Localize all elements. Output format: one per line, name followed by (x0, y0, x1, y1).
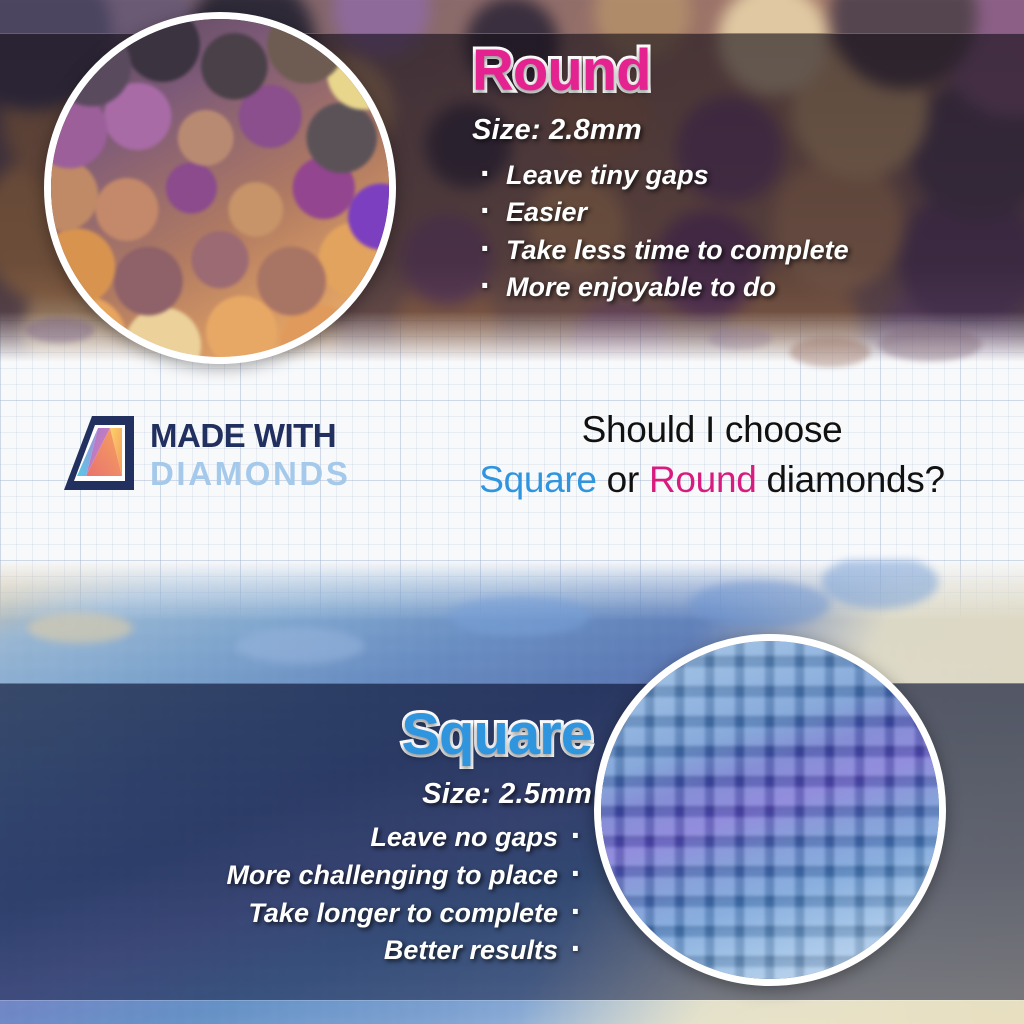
list-item: Take less time to complete (472, 232, 992, 269)
square-title: Square (32, 706, 592, 764)
square-size-label: Size: 2.5mm (32, 778, 592, 811)
list-item: More challenging to place (32, 857, 592, 895)
list-item: Easier (472, 194, 992, 231)
question-word-square: Square (479, 459, 597, 500)
round-closeup-inset (44, 12, 396, 364)
middle-band: MADE WITH DIAMONDS Should I choose Squar… (0, 392, 1024, 568)
square-section-text: Square Size: 2.5mm Leave no gaps More ch… (32, 706, 592, 970)
list-item: Better results (32, 932, 592, 970)
square-benefits-list: Leave no gaps More challenging to place … (32, 819, 592, 970)
round-section-text: Round Size: 2.8mm Leave tiny gaps Easier… (472, 42, 992, 306)
round-benefits-list: Leave tiny gaps Easier Take less time to… (472, 157, 992, 306)
round-closeup-texture (44, 12, 396, 364)
question-word-tail: diamonds? (757, 459, 945, 500)
question-heading: Should I choose Square or Round diamonds… (424, 408, 1000, 501)
square-closeup-inset (594, 634, 946, 986)
list-item: Take longer to complete (32, 895, 592, 933)
question-line-2: Square or Round diamonds? (424, 458, 1000, 502)
list-item: Leave no gaps (32, 819, 592, 857)
question-line-1: Should I choose (424, 408, 1000, 452)
square-scrim-divider-bottom (0, 1000, 1024, 1001)
square-closeup-texture (594, 634, 946, 986)
round-title: Round (472, 42, 992, 100)
diamond-gem-logo-icon (62, 414, 136, 492)
question-word-round: Round (649, 459, 757, 500)
brand-line-made-with: MADE WITH (150, 419, 350, 452)
brand-line-diamonds: DIAMONDS (150, 457, 350, 490)
round-size-label: Size: 2.8mm (472, 114, 992, 147)
brand-logo[interactable]: MADE WITH DIAMONDS (62, 414, 350, 492)
question-word-or: or (597, 459, 649, 500)
list-item: Leave tiny gaps (472, 157, 992, 194)
list-item: More enjoyable to do (472, 269, 992, 306)
brand-wordmark: MADE WITH DIAMONDS (150, 417, 350, 490)
infographic-canvas: Round Size: 2.8mm Leave tiny gaps Easier… (0, 0, 1024, 1024)
